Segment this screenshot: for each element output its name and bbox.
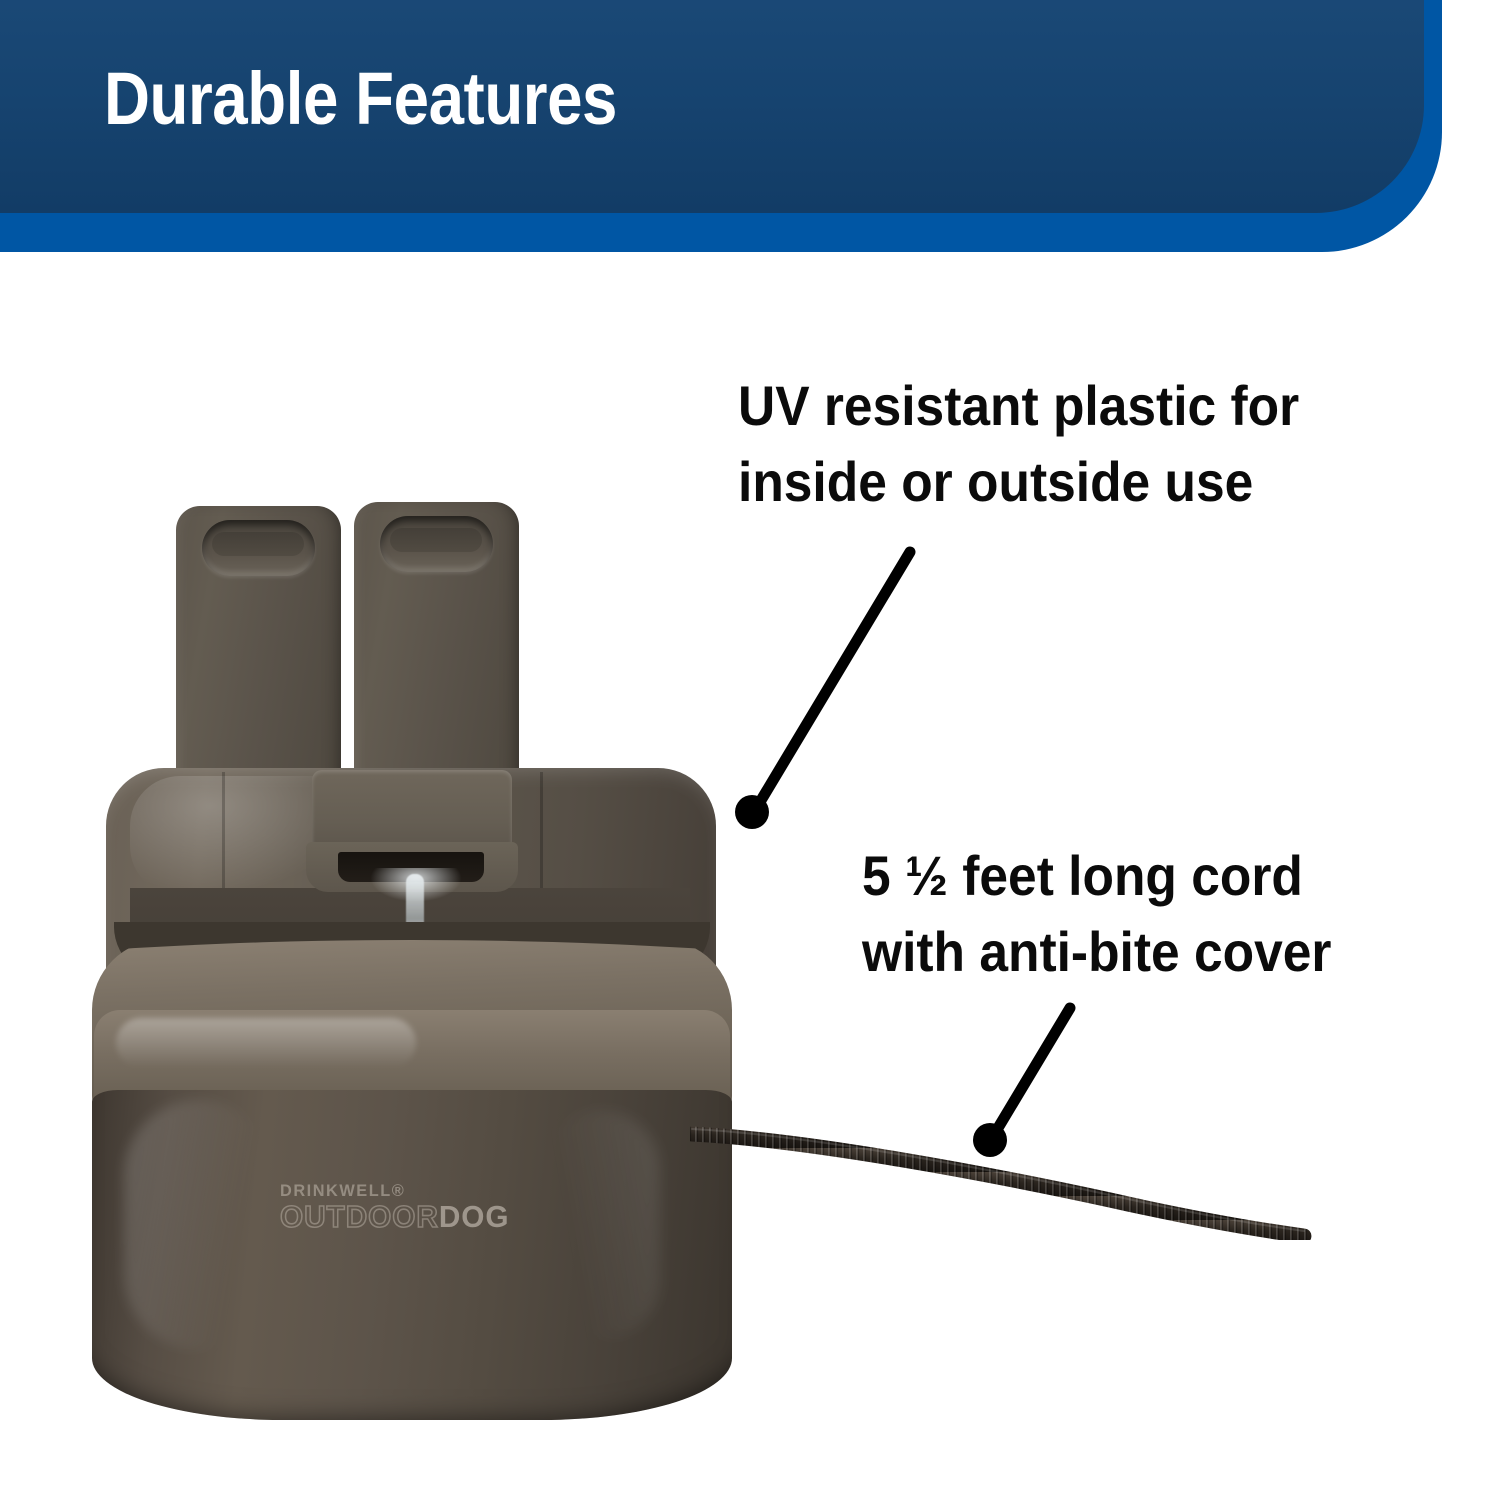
leader-cord-endpoint-dot [973, 1123, 1007, 1157]
tank-handle-grip-right [380, 516, 492, 572]
body-highlight-left [124, 1100, 274, 1350]
header-banner: Durable Features [0, 0, 1500, 260]
callout-cord-line-1: 5 ½ feet long cord [862, 838, 1331, 914]
leader-line-power-cord [940, 980, 1160, 1180]
leader-uv-endpoint-dot [735, 795, 769, 829]
callout-uv-line-2: inside or outside use [738, 444, 1299, 520]
reservoir-tank-left [176, 506, 341, 806]
leader-uv-stroke [754, 552, 910, 812]
product-image: DRINKWELL® OUTDOORDOG [70, 470, 790, 1420]
callout-uv-line-1: UV resistant plastic for [738, 368, 1299, 444]
logo-main-text: OUTDOORDOG [280, 1201, 568, 1234]
callout-uv-resistant-text: UV resistant plastic for inside or outsi… [738, 368, 1299, 520]
infographic-canvas: Durable Features DRINKWELL® OUTDOORDOG [0, 0, 1500, 1500]
reservoir-tank-right [354, 502, 519, 807]
logo-dog-text: DOG [439, 1199, 510, 1234]
page-title: Durable Features [104, 62, 617, 136]
product-logo: DRINKWELL® OUTDOORDOG [280, 1182, 568, 1234]
logo-outdoor-text: OUTDOOR [280, 1199, 439, 1234]
leader-cord-stroke [992, 1008, 1070, 1138]
basin-rim-gloss [116, 1018, 416, 1068]
logo-brand-text: DRINKWELL® [280, 1182, 568, 1199]
callout-power-cord-text: 5 ½ feet long cord with anti-bite cover [862, 838, 1331, 990]
tank-handle-grip-left [202, 520, 314, 576]
callout-cord-line-2: with anti-bite cover [862, 914, 1331, 990]
leader-line-uv-resistant [700, 520, 1000, 860]
